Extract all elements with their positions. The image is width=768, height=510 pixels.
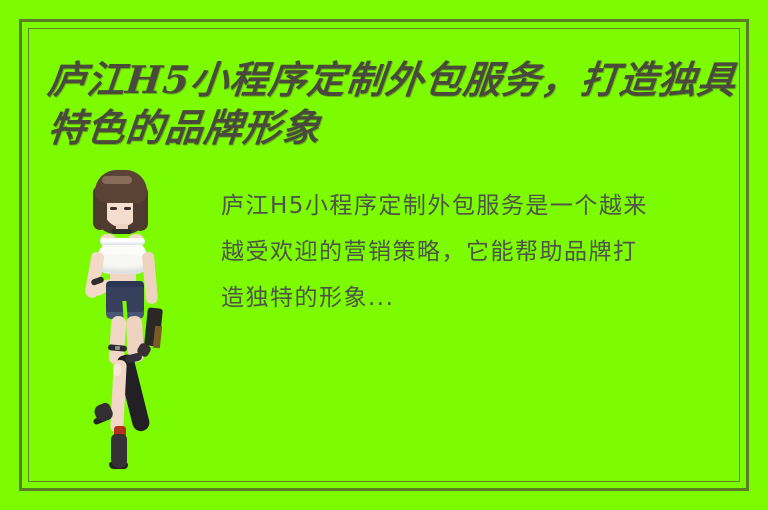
poster-canvas: 庐江H5小程序定制外包服务，打造独具 特色的品牌形象	[0, 0, 768, 510]
page-title: 庐江H5小程序定制外包服务，打造独具 特色的品牌形象	[48, 56, 742, 152]
body-line-1: 庐江H5小程序定制外包服务是一个越来	[221, 183, 739, 229]
thigh-strap-buckle	[115, 346, 120, 350]
eye-left	[110, 207, 117, 210]
boot-front	[111, 434, 127, 468]
hair-bangs	[95, 170, 147, 203]
character-illustration	[62, 168, 190, 478]
body-paragraph: 庐江H5小程序定制外包服务是一个越来 越受欢迎的营销策略，它能帮助品牌打 造独特…	[221, 183, 739, 321]
body-line-3: 造独特的形象...	[221, 275, 739, 321]
knee-highlight	[113, 364, 121, 376]
title-line-1: 庐江H5小程序定制外包服务，打造独具	[45, 56, 744, 104]
pouch-strap	[153, 326, 162, 349]
shorts-waistband	[106, 281, 144, 287]
title-line-2: 特色的品牌形象	[45, 104, 744, 152]
body-line-2: 越受欢迎的营销策略，它能帮助品牌打	[221, 229, 739, 275]
hair-highlight	[102, 176, 132, 184]
arm-right	[142, 252, 158, 305]
eye-right	[124, 207, 131, 210]
blouse-neckline	[100, 238, 145, 245]
choker	[111, 229, 132, 234]
